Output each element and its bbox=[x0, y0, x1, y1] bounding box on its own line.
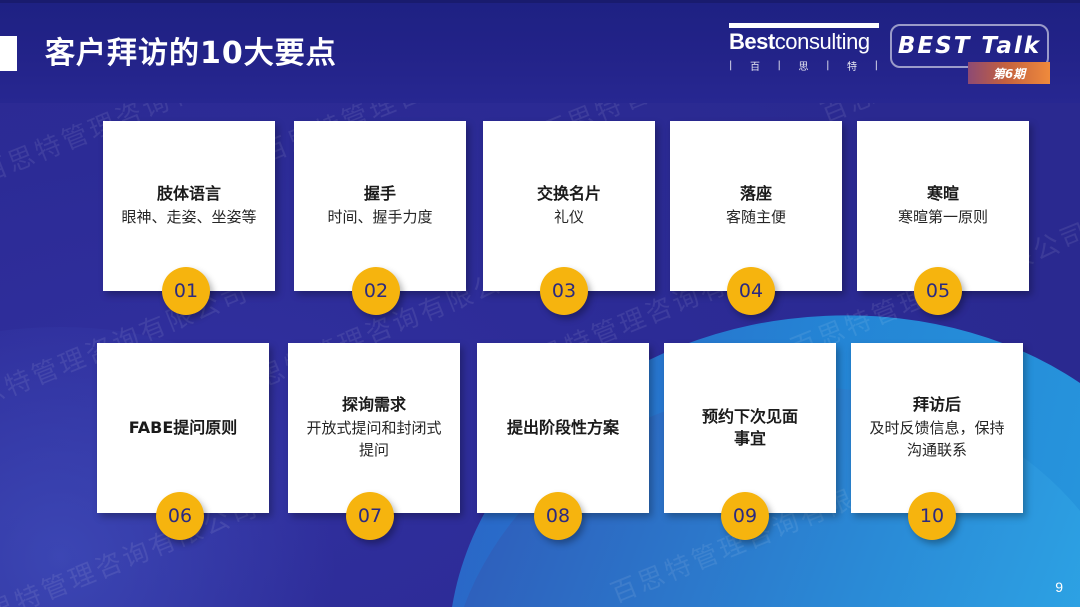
card-number-badge: 07 bbox=[346, 492, 394, 540]
card-number: 04 bbox=[739, 280, 763, 302]
point-card[interactable]: 拜访后 及时反馈信息，保持沟通联系 bbox=[851, 343, 1023, 513]
episode-ribbon: 第6期 bbox=[968, 62, 1050, 84]
card-title: 拜访后 bbox=[913, 394, 961, 416]
card-number-badge: 05 bbox=[914, 267, 962, 315]
card-number-badge: 03 bbox=[540, 267, 588, 315]
card-body: 礼仪 bbox=[554, 207, 584, 229]
card-title: 寒暄 bbox=[927, 183, 959, 205]
point-card[interactable]: 落座 客随主便 bbox=[670, 121, 842, 291]
logo-wordmark: Bestconsulting bbox=[729, 31, 879, 53]
card-number-badge: 01 bbox=[162, 267, 210, 315]
point-card[interactable]: 肢体语言 眼神、走姿、坐姿等 bbox=[103, 121, 275, 291]
card-number: 10 bbox=[920, 505, 944, 527]
card-title: 提出阶段性方案 bbox=[507, 417, 619, 439]
episode-label: 第6期 bbox=[993, 65, 1025, 82]
logo-cn-1: 百 bbox=[750, 58, 761, 73]
card-number-badge: 08 bbox=[534, 492, 582, 540]
best-consulting-logo: Bestconsulting | 百 | 思 | 特 | bbox=[729, 23, 879, 73]
best-talk-logo: BEST Talk bbox=[890, 24, 1049, 68]
logo-chinese-row: | 百 | 思 | 特 | bbox=[729, 58, 879, 73]
card-title: 探询需求 bbox=[342, 394, 406, 416]
point-card[interactable]: 握手 时间、握手力度 bbox=[294, 121, 466, 291]
card-number: 08 bbox=[546, 505, 570, 527]
logo-cn-3: 特 bbox=[847, 58, 858, 73]
logo-sep-icon: | bbox=[729, 60, 733, 71]
point-card[interactable]: 寒暄 寒暄第一原则 bbox=[857, 121, 1029, 291]
card-title: 握手 bbox=[364, 183, 396, 205]
card-number-badge: 04 bbox=[727, 267, 775, 315]
card-number-badge: 06 bbox=[156, 492, 204, 540]
card-number: 07 bbox=[358, 505, 382, 527]
card-title: 交换名片 bbox=[537, 183, 601, 205]
card-title: 预约下次见面事宜 bbox=[695, 406, 805, 449]
point-card[interactable]: 探询需求 开放式提问和封闭式提问 bbox=[288, 343, 460, 513]
card-number: 06 bbox=[168, 505, 192, 527]
card-title: 肢体语言 bbox=[157, 183, 221, 205]
logo-best-text: Best bbox=[729, 31, 775, 53]
page-number: 9 bbox=[1055, 579, 1063, 595]
card-number: 03 bbox=[552, 280, 576, 302]
card-body: 寒暄第一原则 bbox=[898, 207, 988, 229]
logo-sep-icon: | bbox=[826, 60, 830, 71]
page-title: 客户拜访的10大要点 bbox=[45, 28, 337, 72]
card-number: 09 bbox=[733, 505, 757, 527]
logo-consulting-text: consulting bbox=[775, 31, 870, 53]
card-number: 05 bbox=[926, 280, 950, 302]
best-talk-text: BEST Talk bbox=[898, 33, 1041, 59]
card-number: 01 bbox=[174, 280, 198, 302]
logo-sep-icon: | bbox=[778, 60, 782, 71]
logo-sep-icon: | bbox=[875, 60, 879, 71]
point-card[interactable]: 交换名片 礼仪 bbox=[483, 121, 655, 291]
title-accent-bar bbox=[0, 36, 17, 71]
card-title: FABE提问原则 bbox=[129, 417, 238, 439]
card-body: 时间、握手力度 bbox=[327, 207, 432, 229]
card-number-badge: 09 bbox=[721, 492, 769, 540]
card-number: 02 bbox=[364, 280, 388, 302]
card-title: 落座 bbox=[740, 183, 772, 205]
slide-canvas: 百思特管理咨询有限公司 百思特管理咨询有限公司 百思特管理咨询有限公司 百思特管… bbox=[0, 0, 1080, 607]
point-card[interactable]: 提出阶段性方案 bbox=[477, 343, 649, 513]
card-body: 及时反馈信息，保持沟通联系 bbox=[863, 418, 1011, 462]
logo-top-rule bbox=[729, 23, 879, 28]
card-body: 开放式提问和封闭式提问 bbox=[300, 418, 448, 462]
point-card[interactable]: 预约下次见面事宜 bbox=[664, 343, 836, 513]
card-body: 客随主便 bbox=[726, 207, 786, 229]
card-number-badge: 10 bbox=[908, 492, 956, 540]
card-number-badge: 02 bbox=[352, 267, 400, 315]
point-card[interactable]: FABE提问原则 bbox=[97, 343, 269, 513]
card-body: 眼神、走姿、坐姿等 bbox=[121, 207, 256, 229]
logo-cn-2: 思 bbox=[798, 58, 809, 73]
